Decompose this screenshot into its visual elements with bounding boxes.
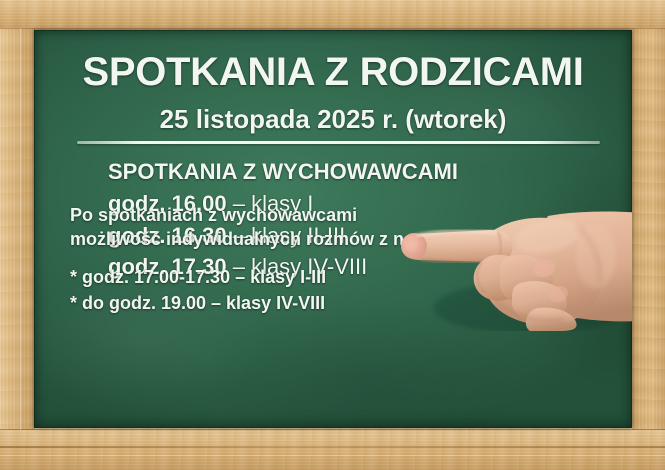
- chalkboard-surface: SPOTKANIA Z RODZICAMI 25 listopada 2025 …: [34, 30, 632, 428]
- frame-stile-left: [0, 28, 34, 430]
- horizontal-divider-rule: [77, 141, 600, 144]
- signature-text: Zapraszamy: [500, 292, 593, 310]
- extra-hours-item: * godz. 17.00-17.30 – klasy I-III: [70, 265, 326, 291]
- frame-joint-left-highlight: [20, 28, 21, 430]
- frame-rail-top: [0, 0, 665, 30]
- poster-title: SPOTKANIA Z RODZICAMI: [34, 52, 632, 92]
- frame-seam-line: [0, 446, 665, 448]
- poster-subtitle-date: 25 listopada 2025 r. (wtorek): [34, 106, 632, 132]
- frame-rail-bottom: [0, 428, 665, 470]
- chalkboard-content: SPOTKANIA Z RODZICAMI 25 listopada 2025 …: [34, 30, 632, 428]
- extra-hours-block: * godz. 17.00-17.30 – klasy I-III * do g…: [70, 265, 326, 316]
- note-line-1: Po spotkaniach z wychowawcami: [70, 204, 520, 228]
- frame-joint-top: [0, 28, 665, 29]
- frame-joint-bottom: [0, 429, 665, 430]
- chalkboard-poster: SPOTKANIA Z RODZICAMI 25 listopada 2025 …: [0, 0, 665, 470]
- schedule-heading: SPOTKANIA Z WYCHOWAWCAMI: [108, 161, 458, 183]
- note-line-2: możliwość indywidualnych rozmów z nauczy…: [70, 228, 520, 252]
- frame-seam-highlight: [0, 455, 665, 456]
- frame-stile-right: [632, 28, 665, 430]
- extra-hours-item: * do godz. 19.00 – klasy IV-VIII: [70, 291, 326, 317]
- note-block: Po spotkaniach z wychowawcami możliwość …: [70, 204, 520, 252]
